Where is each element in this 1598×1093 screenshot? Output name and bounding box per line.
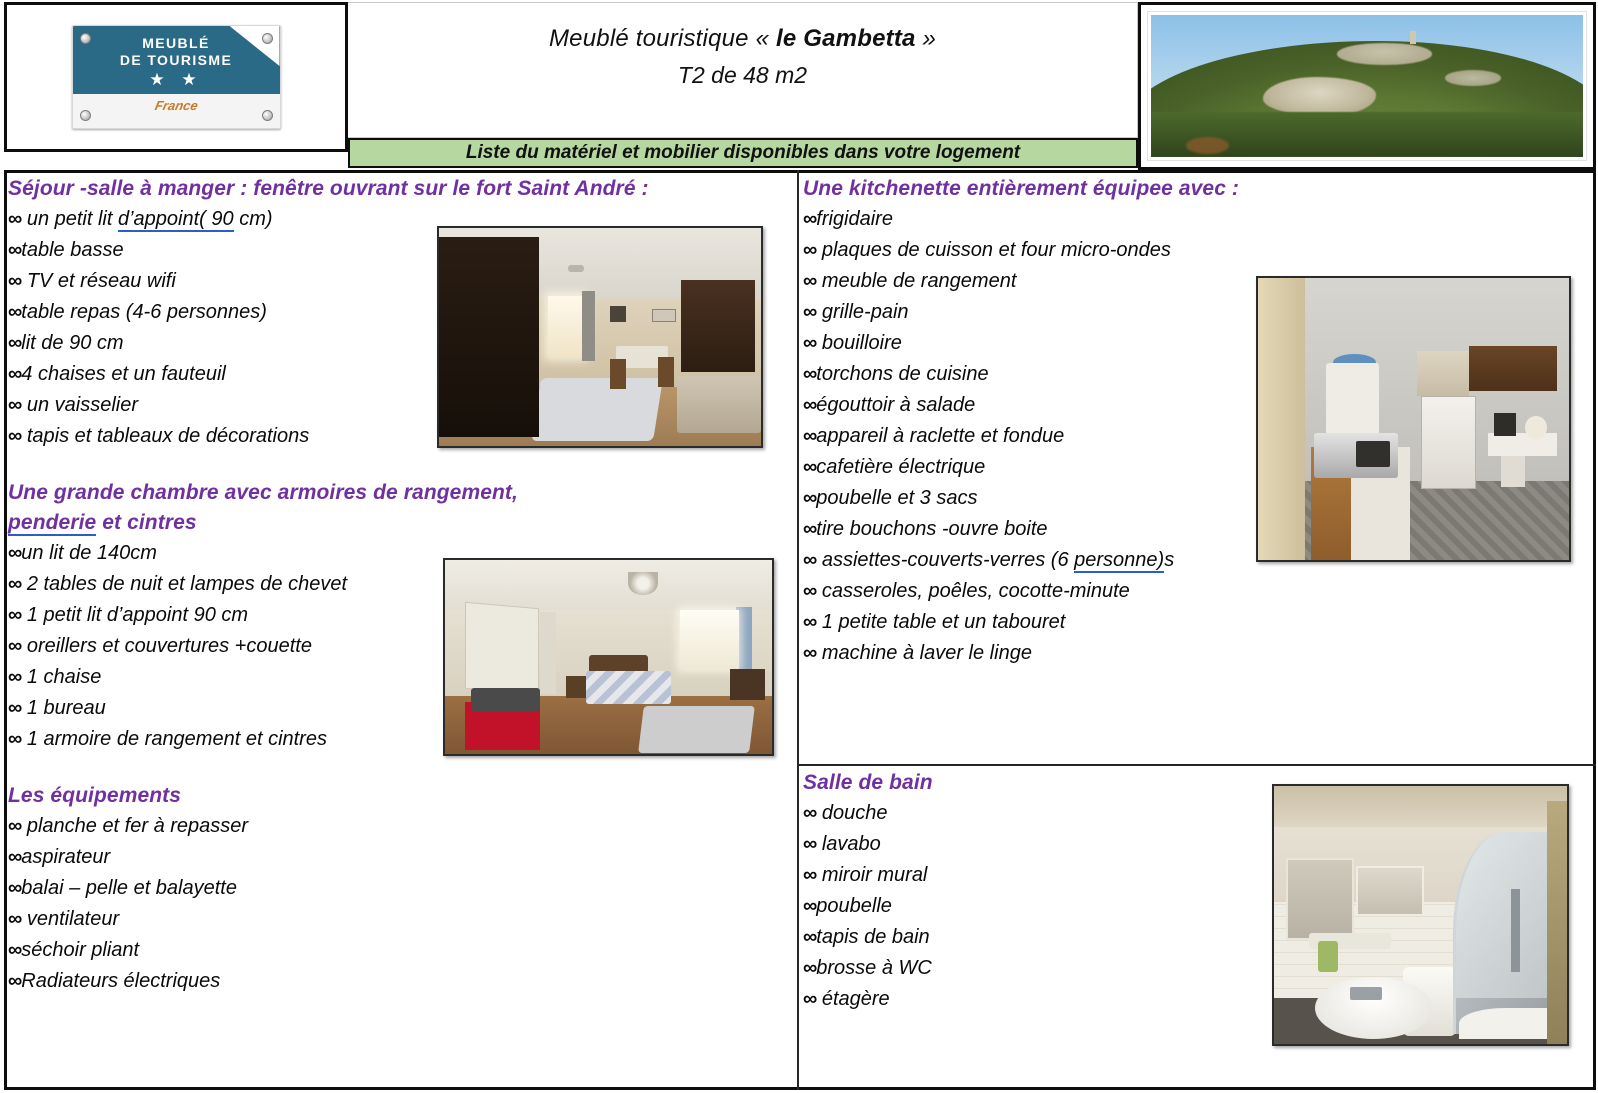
- list-item: ∞frigidaire: [803, 204, 1593, 235]
- window: [548, 296, 583, 357]
- infinity-bullet-icon: ∞: [803, 301, 816, 323]
- list-item-label: grille-pain: [816, 301, 908, 323]
- tap: [1350, 987, 1382, 1000]
- infinity-bullet-icon: ∞: [803, 611, 816, 633]
- meuble-de-tourisme-logo: MEUBLÉ DE TOURISME ★ ★ France: [72, 25, 281, 129]
- list-item: ∞ 1 petite table et un tabouret: [803, 607, 1593, 638]
- infinity-bullet-icon: ∞: [8, 908, 21, 930]
- list-item-label: assiettes-couverts-verres (6: [816, 549, 1074, 571]
- chandelier: [628, 572, 657, 595]
- wardrobe: [681, 280, 755, 372]
- kettle: [1494, 413, 1516, 436]
- list-item-label: égouttoir à salade: [816, 394, 975, 416]
- list-item-label: 4 chaises et un fauteuil: [21, 363, 226, 385]
- infinity-bullet-icon: ∞: [803, 833, 816, 855]
- headboard: [589, 655, 648, 672]
- infinity-bullet-icon: ∞: [8, 425, 21, 447]
- list-item-label: poubelle et 3 sacs: [816, 487, 977, 509]
- infinity-bullet-icon: ∞: [8, 697, 21, 719]
- list-item-label: lavabo: [816, 833, 881, 855]
- infinity-bullet-icon: ∞: [8, 604, 21, 626]
- logo-cell: MEUBLÉ DE TOURISME ★ ★ France: [4, 2, 348, 152]
- infinity-bullet-icon: ∞: [8, 939, 21, 961]
- screw-icon-tr: [262, 33, 273, 44]
- list-item-label: 1 chaise: [21, 666, 101, 688]
- list-item-label: plaques de cuisson et four micro-ondes: [816, 239, 1171, 261]
- infinity-bullet-icon: ∞: [8, 815, 21, 837]
- infinity-bullet-icon: ∞: [8, 394, 21, 416]
- screw-icon-br: [262, 110, 273, 121]
- rug: [638, 706, 755, 753]
- infinity-bullet-icon: ∞: [803, 580, 816, 602]
- list-item-label: 2 tables de nuit et lampes de chevet: [21, 573, 347, 595]
- infinity-bullet-icon: ∞: [8, 363, 21, 385]
- star-rating-icon: ★ ★: [73, 70, 280, 90]
- hero-photo-frame: [1147, 11, 1587, 161]
- list-item-label: un vaisselier: [21, 394, 138, 416]
- curtain: [540, 612, 556, 693]
- france-brand-label: France: [72, 98, 281, 113]
- list-item: ∞ ventilateur: [8, 904, 794, 935]
- shower-tray: [1459, 1008, 1553, 1039]
- banner-text: Liste du matériel et mobilier disponible…: [466, 142, 1020, 164]
- chair-left: [610, 359, 626, 390]
- wall-mirror: [1356, 866, 1424, 916]
- infinity-bullet-icon: ∞: [803, 332, 816, 354]
- infinity-bullet-icon: ∞: [803, 895, 816, 917]
- title-suffix: »: [916, 25, 936, 52]
- autumn-foliage: [1186, 137, 1229, 154]
- infinity-bullet-icon: ∞: [8, 270, 21, 292]
- list-item-label-suffix: cm): [234, 208, 273, 230]
- title-property-name: le Gambetta: [776, 25, 916, 52]
- list-item-label: tapis et tableaux de décorations: [21, 425, 309, 447]
- screw-icon-tl: [80, 33, 91, 44]
- soap-bottle: [1318, 941, 1339, 972]
- plaque-text: MEUBLÉ DE TOURISME: [73, 35, 280, 69]
- infinity-bullet-icon: ∞: [803, 549, 816, 571]
- plaque-line-1: MEUBLÉ: [73, 35, 280, 52]
- list-item-label: tapis de bain: [816, 926, 929, 948]
- plaque-graphic: MEUBLÉ DE TOURISME ★ ★ France: [72, 25, 281, 129]
- rock-outcrop: [1263, 77, 1375, 115]
- rock-outcrop-right: [1445, 70, 1501, 86]
- infinity-bullet-icon: ∞: [803, 642, 816, 664]
- infinity-bullet-icon: ∞: [8, 635, 21, 657]
- page-subtitle: T2 de 48 m2: [678, 62, 807, 89]
- door-curtain: [1258, 278, 1305, 560]
- infinity-bullet-icon: ∞: [8, 877, 21, 899]
- list-item-label: Radiateurs électriques: [21, 970, 220, 992]
- chambre-heading-link[interactable]: penderie: [8, 511, 96, 536]
- list-item-label: casseroles, poêles, cocotte-minute: [816, 580, 1130, 602]
- document-page: MEUBLÉ DE TOURISME ★ ★ France Meublé tou…: [0, 0, 1598, 1093]
- list-item-label: lit de 90 cm: [21, 332, 123, 354]
- dark-cabinet: [439, 237, 539, 438]
- infinity-bullet-icon: ∞: [8, 542, 21, 564]
- list-item: ∞aspirateur: [8, 842, 794, 873]
- list-item-label: un petit lit: [21, 208, 118, 230]
- list-item-label: 1 armoire de rangement et cintres: [21, 728, 327, 750]
- list-item-label: torchons de cuisine: [816, 363, 988, 385]
- shower-bar: [1511, 889, 1520, 972]
- infinity-bullet-icon: ∞: [803, 239, 816, 261]
- chair-right: [658, 357, 674, 388]
- list-item-label: frigidaire: [816, 208, 893, 230]
- column-divider: [797, 170, 799, 1090]
- infinity-bullet-icon: ∞: [803, 208, 816, 230]
- infinity-bullet-icon: ∞: [803, 926, 816, 948]
- infinity-bullet-icon: ∞: [803, 487, 816, 509]
- list-item-label: ventilateur: [21, 908, 119, 930]
- section-heading-chambre-line2: penderie et cintres: [8, 508, 794, 538]
- fort-saint-andre-hill-photo: [1151, 15, 1583, 157]
- ceiling: [1274, 786, 1567, 827]
- list-item-link[interactable]: d’appoint( 90: [118, 208, 234, 232]
- infinity-bullet-icon: ∞: [803, 957, 816, 979]
- infinity-bullet-icon: ∞: [8, 728, 21, 750]
- photo-inner-border: [1265, 285, 1562, 553]
- rock-outcrop-upper: [1337, 43, 1432, 64]
- upper-cabinet-light: [1417, 351, 1470, 396]
- jar: [1525, 416, 1547, 439]
- section-heading-kitchenette: Une kitchenette entièrement équipee avec…: [803, 174, 1593, 204]
- list-item-label: 1 petit lit d’appoint 90 cm: [21, 604, 248, 626]
- bedroom-photo: [445, 560, 772, 754]
- living-dining-room-photo: [439, 228, 761, 446]
- list-item-label: 1 bureau: [21, 697, 106, 719]
- spacer-2: [8, 755, 794, 781]
- list-item-label: balai – pelle et balayette: [21, 877, 237, 899]
- mirror-left: [1286, 858, 1354, 939]
- fridge: [1421, 396, 1476, 488]
- microwave-oven: [1314, 433, 1398, 478]
- coffee-machine: [1326, 363, 1379, 436]
- right-column-divider: [799, 764, 1596, 766]
- bed: [586, 671, 671, 704]
- infinity-bullet-icon: ∞: [8, 208, 21, 230]
- infinity-bullet-icon: ∞: [803, 363, 816, 385]
- list-item-label: tire bouchons -ouvre boite: [816, 518, 1047, 540]
- france-brand-text: France: [153, 98, 199, 113]
- list-item-label: table basse: [21, 239, 123, 261]
- window: [680, 610, 739, 668]
- infinity-bullet-icon: ∞: [803, 864, 816, 886]
- bathroom-photo-frame: [1272, 784, 1569, 1046]
- curtain: [582, 291, 595, 361]
- infinity-bullet-icon: ∞: [8, 301, 21, 323]
- list-item: ∞ machine à laver le linge: [803, 638, 1593, 669]
- chambre-heading-rest: et cintres: [96, 511, 196, 534]
- list-item-label: oreillers et couvertures +couette: [21, 635, 312, 657]
- list-item-label: meuble de rangement: [816, 270, 1016, 292]
- day-bed: [677, 376, 761, 433]
- list-item-label: cafetière électrique: [816, 456, 985, 478]
- list-item-label: séchoir pliant: [21, 939, 139, 961]
- infinity-bullet-icon: ∞: [8, 846, 21, 868]
- infinity-bullet-icon: ∞: [803, 425, 816, 447]
- infinity-bullet-icon: ∞: [8, 666, 21, 688]
- title-prefix: Meublé touristique «: [549, 25, 776, 52]
- list-item-label: aspirateur: [21, 846, 110, 868]
- photo-inner-border: [446, 235, 754, 439]
- list-item: ∞ casseroles, poêles, cocotte-minute: [803, 576, 1593, 607]
- section-heading-sejour: Séjour -salle à manger : fenêtre ouvrant…: [8, 174, 794, 204]
- kitchenette-photo: [1258, 278, 1569, 560]
- infinity-bullet-icon: ∞: [8, 332, 21, 354]
- infinity-bullet-icon: ∞: [803, 802, 816, 824]
- list-item-label: étagère: [816, 988, 889, 1010]
- list-item-label: appareil à raclette et fondue: [816, 425, 1064, 447]
- infinity-bullet-icon: ∞: [803, 518, 816, 540]
- list-item: ∞Radiateurs électriques: [8, 966, 794, 997]
- list-item-label: bouilloire: [816, 332, 902, 354]
- list-item-label: machine à laver le linge: [816, 642, 1032, 664]
- washbasin: [1315, 977, 1432, 1039]
- photo-inner-border: [452, 567, 765, 747]
- section-heading-equipements: Les équipements: [8, 781, 794, 811]
- ceiling: [445, 560, 772, 610]
- page-title: Meublé touristique « le Gambetta »: [549, 25, 936, 53]
- list-item-link[interactable]: personne): [1074, 549, 1164, 573]
- list-item: ∞balai – pelle et balayette: [8, 873, 794, 904]
- list-item-label: table repas (4-6 personnes): [21, 301, 267, 323]
- list-item-label: douche: [816, 802, 887, 824]
- list-item-label-suffix: s: [1164, 549, 1174, 571]
- kitchen-photo-frame: [1256, 276, 1571, 562]
- hilltop-tower: [1410, 31, 1416, 44]
- spacer-1: [8, 452, 794, 478]
- rug: [531, 378, 663, 441]
- list-item-label: brosse à WC: [816, 957, 932, 979]
- photo-inner-border: [1281, 793, 1560, 1037]
- infinity-bullet-icon: ∞: [803, 394, 816, 416]
- section-heading-chambre: Une grande chambre avec armoires de rang…: [8, 478, 794, 508]
- infinity-bullet-icon: ∞: [803, 456, 816, 478]
- stool: [1501, 456, 1526, 487]
- list-item: ∞ plaques de cuisson et four micro-ondes: [803, 235, 1593, 266]
- desk: [730, 669, 766, 700]
- list-item-label: planche et fer à repasser: [21, 815, 248, 837]
- door: [1547, 801, 1568, 1044]
- list-item: ∞ planche et fer à repasser: [8, 811, 794, 842]
- screw-icon-bl: [80, 110, 91, 121]
- hero-photo-cell: [1138, 2, 1596, 170]
- list-item-label: 1 petite table et un tabouret: [816, 611, 1065, 633]
- list-item-label: un lit de 140cm: [21, 542, 157, 564]
- cushion: [471, 688, 540, 711]
- list-item-label: TV et réseau wifi: [21, 270, 176, 292]
- infinity-bullet-icon: ∞: [803, 988, 816, 1010]
- small-table: [1488, 433, 1556, 456]
- infinity-bullet-icon: ∞: [8, 970, 21, 992]
- wall-picture: [610, 306, 626, 321]
- list-item-label: miroir mural: [816, 864, 927, 886]
- banner-bar: Liste du matériel et mobilier disponible…: [348, 138, 1138, 168]
- list-item-label: poubelle: [816, 895, 892, 917]
- wall-picture-2: [652, 309, 677, 322]
- title-cell: Meublé touristique « le Gambetta » T2 de…: [348, 2, 1138, 138]
- bedroom-photo-frame: [443, 558, 774, 756]
- upper-cabinet-dark: [1469, 346, 1556, 391]
- infinity-bullet-icon: ∞: [803, 270, 816, 292]
- shower-cabin: [1453, 832, 1556, 1033]
- list-item: ∞séchoir pliant: [8, 935, 794, 966]
- bathroom-photo: [1274, 786, 1567, 1044]
- plaque-line-2: DE TOURISME: [73, 52, 280, 69]
- chambre-heading-line1: Une grande chambre avec armoires de rang…: [8, 481, 518, 504]
- wardrobe-door: [465, 601, 539, 695]
- infinity-bullet-icon: ∞: [8, 573, 21, 595]
- list-equipements: ∞ planche et fer à repasser∞aspirateur∞b…: [8, 811, 794, 997]
- floor: [1258, 481, 1569, 560]
- infinity-bullet-icon: ∞: [8, 239, 21, 261]
- living-room-photo-frame: [437, 226, 763, 448]
